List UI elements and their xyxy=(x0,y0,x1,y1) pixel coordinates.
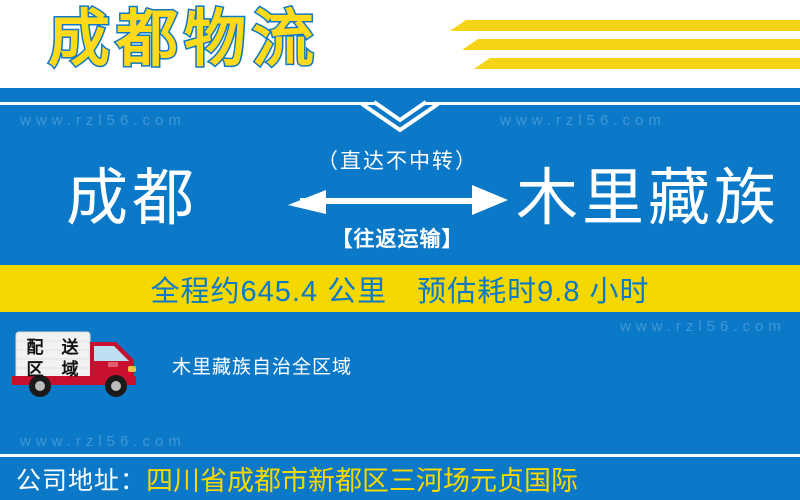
brand-title: 成都物流 xyxy=(48,3,320,77)
coverage-text: 木里藏族自治全区域 xyxy=(172,352,352,379)
stripe-2 xyxy=(462,39,800,50)
address-label: 公司地址： xyxy=(16,461,146,497)
logistics-poster: 成都物流 www.rzl56.com www.rzl56.com www.rzl… xyxy=(0,0,800,500)
divider-rule xyxy=(0,102,800,105)
svg-text:配: 配 xyxy=(27,338,44,358)
delivery-row: 配 送 区 域 木里藏族自治全区域 xyxy=(0,324,800,402)
stats-band: 全程约645.4 公里 预估耗时9.8 小时 xyxy=(0,265,800,312)
origin-city: 成都 xyxy=(66,153,198,245)
poster-header: 成都物流 xyxy=(0,0,800,88)
watermark: www.rzl56.com xyxy=(20,112,186,129)
route-middle: （直达不中转） 【往返运输】 xyxy=(280,145,515,270)
round-trip-arrows-icon xyxy=(286,181,511,223)
round-trip-note: 【往返运输】 xyxy=(280,223,515,253)
direct-note: （直达不中转） xyxy=(280,145,515,175)
stripe-3 xyxy=(474,58,800,69)
route-row: 成都 木里藏族 （直达不中转） 【往返运输】 xyxy=(0,153,800,258)
divider-left xyxy=(0,102,375,105)
delivery-truck-icon: 配 送 区 域 xyxy=(8,326,160,398)
watermark: www.rzl56.com xyxy=(20,433,186,450)
chevron-down-icon xyxy=(360,100,440,134)
svg-text:域: 域 xyxy=(62,359,79,380)
stats-text: 全程约645.4 公里 预估耗时9.8 小时 xyxy=(151,268,650,310)
svg-text:区: 区 xyxy=(27,360,44,380)
address-value: 四川省成都市新都区三河场元贞国际 xyxy=(146,459,578,498)
svg-text:送: 送 xyxy=(62,337,80,358)
address-bar: 公司地址： 四川省成都市新都区三河场元贞国际 xyxy=(0,457,800,500)
header-stripes xyxy=(400,0,800,88)
destination-city: 木里藏族 xyxy=(516,153,780,245)
poster-body: www.rzl56.com www.rzl56.com www.rzl56.co… xyxy=(0,88,800,500)
stripe-1 xyxy=(450,20,800,31)
watermark: www.rzl56.com xyxy=(500,112,666,129)
divider-right xyxy=(425,102,800,105)
